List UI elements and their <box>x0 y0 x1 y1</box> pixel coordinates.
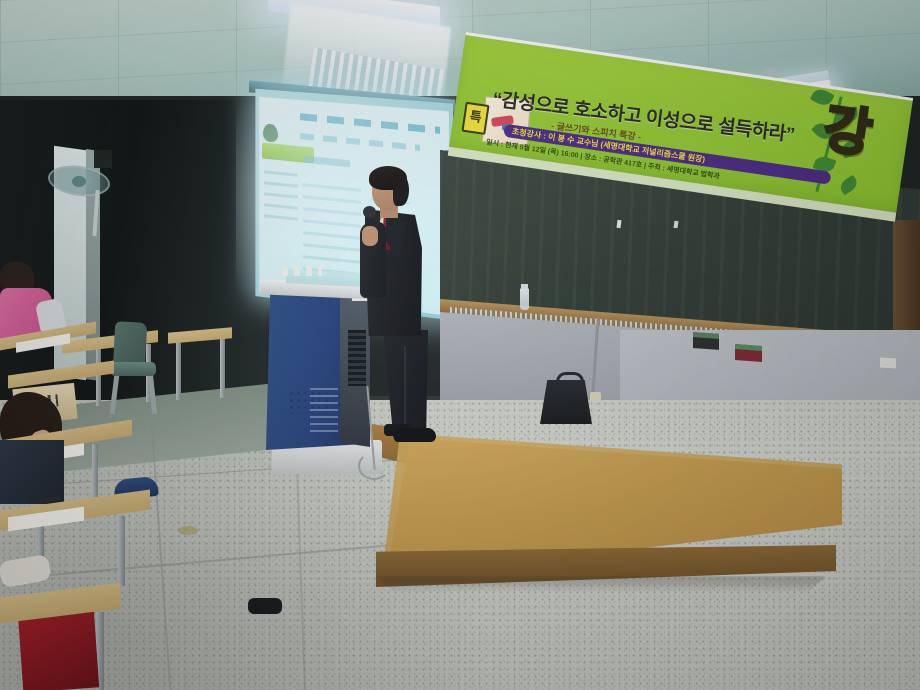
classroom-chair-seat <box>110 362 156 376</box>
black-briefcase <box>540 380 592 424</box>
chalk-eraser <box>693 332 719 350</box>
student-dark-top <box>0 440 64 504</box>
fan-hub-icon <box>72 176 86 187</box>
lectern-items <box>282 266 322 276</box>
wall-fan <box>48 160 114 200</box>
chalk-box <box>880 357 896 368</box>
microphone-head-icon <box>363 206 376 218</box>
banner-badge-char: 특 <box>461 102 489 135</box>
presenter-hair-side <box>393 174 409 206</box>
floor-stain <box>178 526 198 535</box>
banner-big-character: 강 <box>820 103 875 161</box>
water-bottle <box>520 288 529 310</box>
bottle-cap <box>521 284 528 289</box>
student-shoe <box>248 598 282 614</box>
chalk-eraser <box>735 344 762 362</box>
presenter-hand <box>362 226 378 246</box>
lecture-hall-photo: 특 “감성으로 호소하고 이성으로 설득하라” - 글쓰기와 스피치 특강 - … <box>0 0 920 690</box>
desk-leg <box>118 516 125 586</box>
desk-leg <box>176 340 181 400</box>
fan-mount <box>94 150 112 168</box>
lectern-printed-text <box>310 388 338 434</box>
lectern-cable-loop <box>358 452 390 480</box>
presenter-shoe <box>394 428 436 442</box>
desk-leg <box>96 346 101 406</box>
presenter-trouser-crease <box>404 346 406 434</box>
lectern-speaker-grille <box>348 330 366 386</box>
stage-shadow <box>376 576 826 592</box>
page-sidebar-list <box>264 170 298 225</box>
desk-leg <box>92 444 98 500</box>
desk-leg <box>220 338 225 398</box>
